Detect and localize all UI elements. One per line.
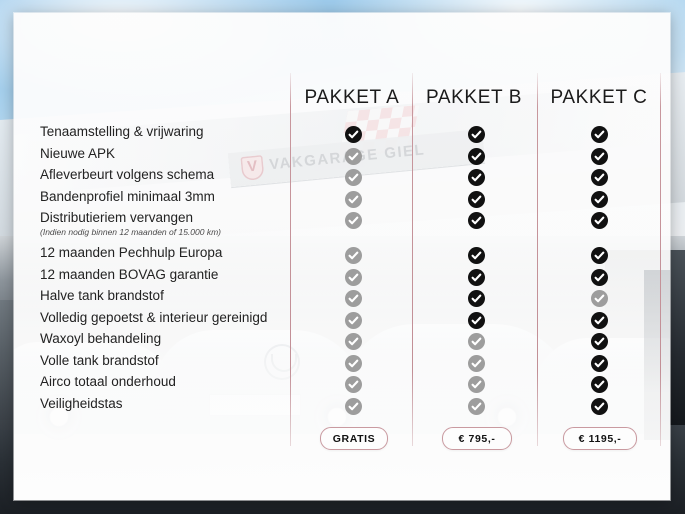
check-excluded-icon <box>345 355 362 372</box>
column-divider-3 <box>537 73 538 446</box>
check-excluded-icon <box>345 333 362 350</box>
column-divider-4 <box>660 73 661 446</box>
price-button-a[interactable]: GRATIS <box>320 427 388 450</box>
feature-label: 12 maanden BOVAG garantie <box>40 267 218 282</box>
feature-label: Afleverbeurt volgens schema <box>40 167 214 182</box>
price-button-b[interactable]: € 795,- <box>442 427 512 450</box>
check-excluded-icon <box>345 148 362 165</box>
check-included-icon <box>591 126 608 143</box>
feature-label: 12 maanden Pechhulp Europa <box>40 245 222 260</box>
check-excluded-icon <box>345 212 362 229</box>
check-included-icon <box>468 126 485 143</box>
check-included-icon <box>591 212 608 229</box>
package-comparison-card: VAKGARAGE GIEL PAKKET APAKKET BPAKKET CT… <box>14 13 670 500</box>
column-header-b: PAKKET B <box>413 87 535 109</box>
check-excluded-icon <box>591 290 608 307</box>
check-included-icon <box>591 312 608 329</box>
comparison-table: PAKKET APAKKET BPAKKET CTenaamstelling &… <box>14 13 670 500</box>
column-divider-2 <box>412 73 413 446</box>
check-included-icon <box>591 398 608 415</box>
check-included-icon <box>591 269 608 286</box>
feature-label: Halve tank brandstof <box>40 288 164 303</box>
feature-label: Volledig gepoetst & interieur gereinigd <box>40 310 267 325</box>
check-included-icon <box>345 126 362 143</box>
check-included-icon <box>591 376 608 393</box>
check-included-icon <box>468 247 485 264</box>
feature-subnote: (Indien nodig binnen 12 maanden of 15.00… <box>40 227 221 237</box>
check-excluded-icon <box>468 398 485 415</box>
check-included-icon <box>591 191 608 208</box>
feature-label: Tenaamstelling & vrijwaring <box>40 124 204 139</box>
feature-label: Distributieriem vervangen <box>40 210 193 225</box>
check-excluded-icon <box>345 398 362 415</box>
check-included-icon <box>591 333 608 350</box>
price-button-c[interactable]: € 1195,- <box>563 427 637 450</box>
check-excluded-icon <box>345 169 362 186</box>
check-excluded-icon <box>345 269 362 286</box>
check-included-icon <box>468 269 485 286</box>
feature-label: Waxoyl behandeling <box>40 331 161 346</box>
check-included-icon <box>591 355 608 372</box>
check-included-icon <box>468 212 485 229</box>
feature-label: Airco totaal onderhoud <box>40 374 176 389</box>
check-included-icon <box>591 148 608 165</box>
feature-label: Bandenprofiel minimaal 3mm <box>40 189 215 204</box>
check-included-icon <box>468 191 485 208</box>
check-excluded-icon <box>345 376 362 393</box>
check-excluded-icon <box>468 376 485 393</box>
column-divider-1 <box>290 73 291 446</box>
check-excluded-icon <box>345 312 362 329</box>
column-header-a: PAKKET A <box>291 87 413 109</box>
check-included-icon <box>468 169 485 186</box>
check-included-icon <box>468 312 485 329</box>
check-excluded-icon <box>345 191 362 208</box>
check-excluded-icon <box>468 355 485 372</box>
check-included-icon <box>591 247 608 264</box>
feature-label: Nieuwe APK <box>40 146 115 161</box>
column-header-c: PAKKET C <box>538 87 660 109</box>
check-excluded-icon <box>345 290 362 307</box>
check-included-icon <box>591 169 608 186</box>
check-included-icon <box>468 148 485 165</box>
feature-label: Volle tank brandstof <box>40 353 159 368</box>
check-excluded-icon <box>468 333 485 350</box>
feature-label: Veiligheidstas <box>40 396 123 411</box>
check-excluded-icon <box>345 247 362 264</box>
check-included-icon <box>468 290 485 307</box>
